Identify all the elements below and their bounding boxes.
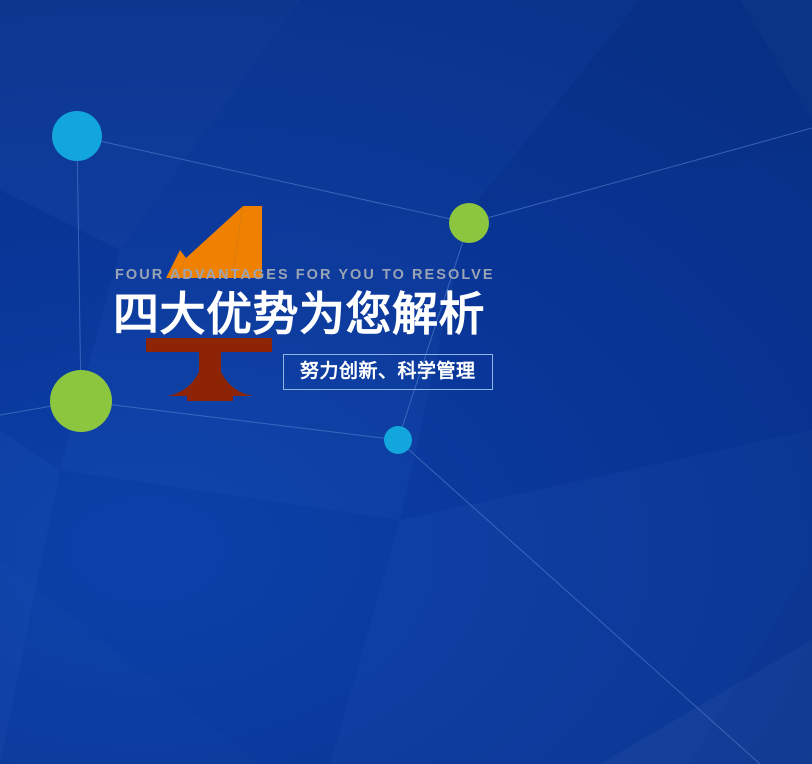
node-cyan-large-icon xyxy=(52,111,102,161)
banner-subtitle-row: 努力创新、科学管理 xyxy=(283,354,673,391)
node-cyan-small-icon xyxy=(384,426,412,454)
network-line xyxy=(77,136,469,223)
network-line xyxy=(81,401,398,440)
promo-banner: FOUR ADVANTAGES FOR YOU TO RESOLVE 四大优势为… xyxy=(0,0,812,764)
network-line xyxy=(398,440,760,764)
banner-content: FOUR ADVANTAGES FOR YOU TO RESOLVE 四大优势为… xyxy=(113,268,673,390)
network-line xyxy=(77,136,81,401)
node-green-large-icon xyxy=(50,370,112,432)
banner-subtitle-badge: 努力创新、科学管理 xyxy=(283,354,493,391)
node-green-small-icon xyxy=(449,203,489,243)
network-line xyxy=(469,128,812,223)
banner-headline: 四大优势为您解析 xyxy=(113,291,673,337)
banner-eyebrow: FOUR ADVANTAGES FOR YOU TO RESOLVE xyxy=(115,268,673,283)
